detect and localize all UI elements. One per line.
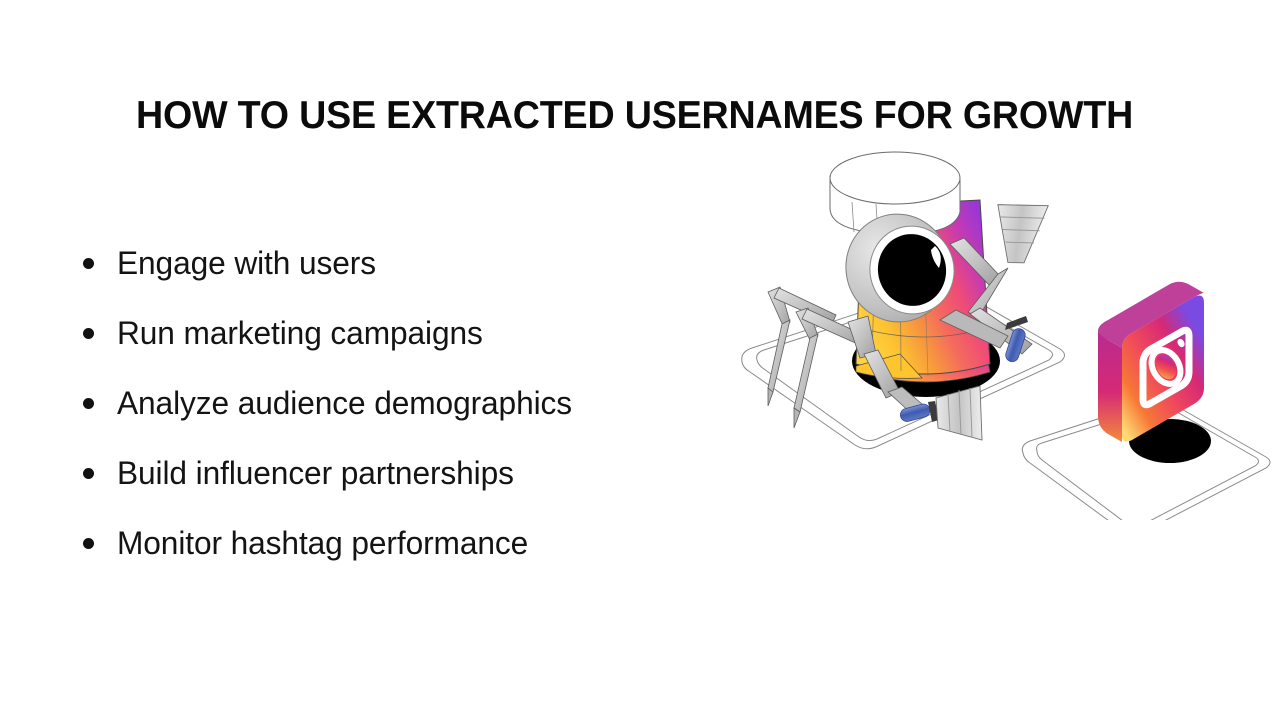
tool-funnel-icon <box>990 199 1048 267</box>
list-item-label: Run marketing campaigns <box>117 314 483 352</box>
list-item: Monitor hashtag performance <box>78 508 738 578</box>
list-item: Run marketing campaigns <box>78 298 738 368</box>
list-item-label: Monitor hashtag performance <box>117 524 528 562</box>
list-item-label: Build influencer partnerships <box>117 454 514 492</box>
bullet-list: Engage with users Run marketing campaign… <box>78 228 738 578</box>
bullet-marker-icon <box>83 328 94 339</box>
bullet-marker-icon <box>83 468 94 479</box>
bullet-marker-icon <box>83 258 94 269</box>
list-item: Build influencer partnerships <box>78 438 738 508</box>
illustration-isometric-robot-instagram <box>660 140 1280 520</box>
page-title: HOW TO USE EXTRACTED USERNAMES FOR GROWT… <box>136 92 1111 140</box>
list-item-label: Engage with users <box>117 244 376 282</box>
bullet-marker-icon <box>83 538 94 549</box>
slide-canvas: HOW TO USE EXTRACTED USERNAMES FOR GROWT… <box>0 0 1280 720</box>
list-item: Analyze audience demographics <box>78 368 738 438</box>
list-item-label: Analyze audience demographics <box>117 384 572 422</box>
list-item: Engage with users <box>78 228 738 298</box>
bullet-marker-icon <box>83 398 94 409</box>
